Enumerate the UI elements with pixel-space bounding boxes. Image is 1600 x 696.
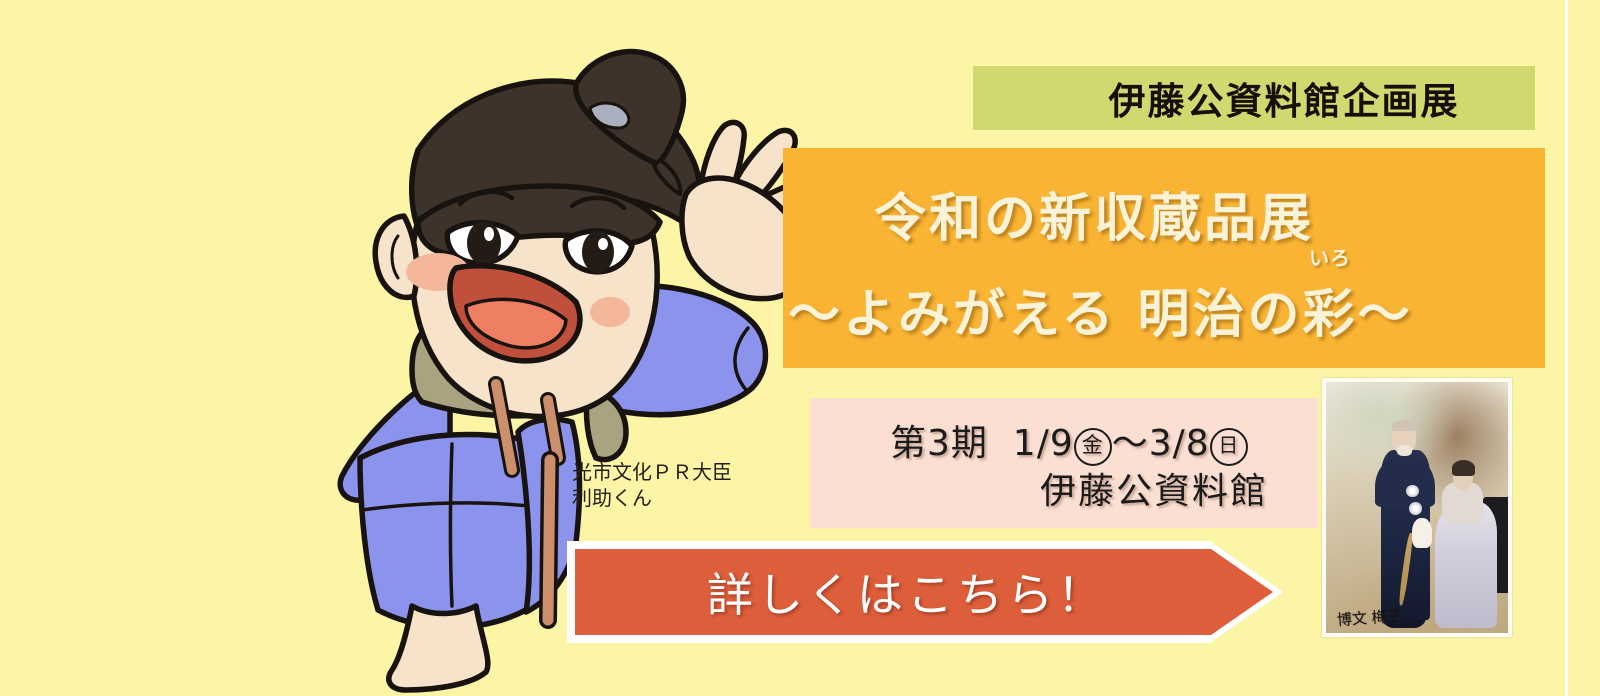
schedule-end-date: 3/8 xyxy=(1149,423,1210,464)
schedule-start-weekday-badge: 金 xyxy=(1074,428,1112,466)
right-margin-fill xyxy=(1568,0,1600,696)
mascot-caption-line2: 利助くん xyxy=(572,486,732,512)
cta-label: 詳しくはこちら！ xyxy=(707,559,1107,625)
schedule-dates: 第3期 1/9金〜3/8日 xyxy=(890,414,1248,466)
venue-name: 伊藤公資料館 xyxy=(1040,462,1268,514)
photo-man-glove xyxy=(1412,518,1432,548)
exhibition-banner[interactable]: 光市文化ＰＲ大臣 利助くん 伊藤公資料館企画展 令和の新収蔵品展 〜よみがえる … xyxy=(0,0,1600,696)
title-sub-before: 〜よみがえる 明治の xyxy=(788,284,1303,345)
title-sub-ruby-base: 彩 xyxy=(1303,284,1358,345)
schedule-start-date: 1/9 xyxy=(1013,423,1074,464)
photo-man-hair xyxy=(1392,420,1417,431)
exhibit-photo-frame[interactable]: 博文 梅子 xyxy=(1322,378,1512,637)
historical-portrait-photo: 博文 梅子 xyxy=(1326,382,1508,633)
photo-calligraphy-signature: 博文 梅子 xyxy=(1337,609,1403,627)
title-sub-after: 〜 xyxy=(1358,284,1413,345)
schedule-period-label: 第3期 xyxy=(890,423,988,464)
schedule-range-separator: 〜 xyxy=(1112,423,1149,464)
mascot-caption: 光市文化ＰＲ大臣 利助くん xyxy=(572,460,732,511)
title-sub-ruby-reading: いろ xyxy=(1309,242,1351,271)
photo-man-medal-lower xyxy=(1409,502,1422,515)
exhibition-title-sub: 〜よみがえる 明治のいろ彩〜 xyxy=(788,272,1413,347)
details-cta-button[interactable]: 詳しくはこちら！ xyxy=(567,541,1283,643)
photo-man-beard xyxy=(1397,445,1412,456)
exhibition-series-label: 伊藤公資料館企画展 xyxy=(1109,71,1460,125)
title-sub-ruby-group: いろ彩 xyxy=(1303,272,1358,347)
exhibition-title-main: 令和の新収蔵品展 xyxy=(874,176,1314,251)
cta-arrow-body[interactable]: 詳しくはこちら！ xyxy=(575,549,1273,635)
mascot-caption-line1: 光市文化ＰＲ大臣 xyxy=(572,460,732,486)
schedule-end-weekday-badge: 日 xyxy=(1210,428,1248,466)
exhibition-series-band: 伊藤公資料館企画展 xyxy=(973,66,1535,130)
photo-woman-hair xyxy=(1452,460,1476,476)
photo-man-shoulders xyxy=(1375,457,1435,507)
